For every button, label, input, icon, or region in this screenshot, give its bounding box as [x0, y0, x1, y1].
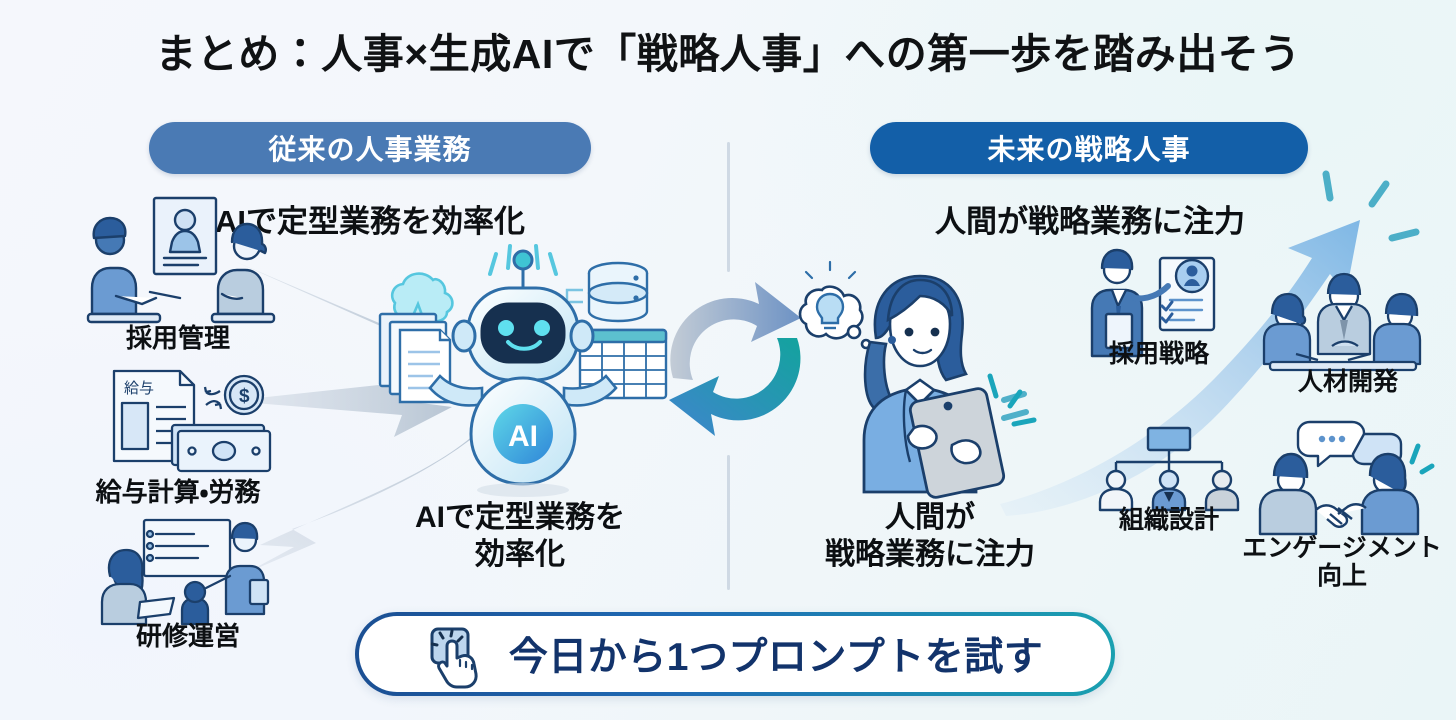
right-item-3-label: エンゲージメント 向上	[1228, 534, 1456, 590]
pill-legacy-hr[interactable]: 従来の人事業務	[149, 122, 591, 174]
center-left-caption: AIで定型業務を 効率化	[370, 500, 670, 573]
center-right-caption: 人間が 戦略業務に注力	[780, 500, 1080, 573]
left-item-2-label: 研修運営	[78, 622, 298, 651]
robot-ai-badge-text: AI	[508, 420, 538, 453]
payroll-icon: 給与 $	[98, 365, 278, 480]
handshake-icon	[1252, 418, 1432, 534]
cta-label: 今日から1つプロンプトを試す	[509, 626, 1044, 682]
right-item-0-label: 採用戦略	[1064, 340, 1254, 368]
talent-development-icon	[1262, 272, 1427, 382]
pill-strategic-hr-label: 未来の戦略人事	[987, 128, 1190, 168]
pill-strategic-hr[interactable]: 未来の戦略人事	[870, 122, 1308, 174]
slide-canvas: まとめ：人事×生成AIで「戦略人事」への第一歩を踏み出そう 従来の人事業務 未来…	[0, 0, 1456, 720]
left-item-0-label: 採用管理	[68, 324, 288, 353]
training-icon	[98, 518, 278, 628]
org-chart-icon	[1098, 426, 1238, 512]
slide-title: まとめ：人事×生成AIで「戦略人事」への第一歩を踏み出そう	[0, 20, 1456, 80]
left-item-1-label: 給与計算・労務	[48, 478, 308, 507]
pill-legacy-hr-label: 従来の人事業務	[268, 128, 471, 168]
interview-icon	[86, 196, 276, 326]
circular-arrows-icon	[655, 256, 815, 456]
svg-text:$: $	[239, 386, 250, 407]
ai-robot-icon: AI	[378, 238, 668, 498]
center-divider-top	[727, 142, 730, 272]
center-divider-bottom	[727, 455, 730, 590]
right-item-2-label: 組織設計	[1074, 506, 1264, 534]
right-column-heading: 人間が戦略業務に注力	[870, 196, 1310, 241]
businesswoman-tablet-icon	[792, 246, 1044, 498]
cta-button[interactable]: 今日から1つプロンプトを試す	[355, 612, 1115, 696]
tap-click-icon	[427, 624, 487, 684]
right-item-1-label: 人材開発	[1248, 368, 1448, 396]
svg-text:給与: 給与	[124, 380, 154, 397]
